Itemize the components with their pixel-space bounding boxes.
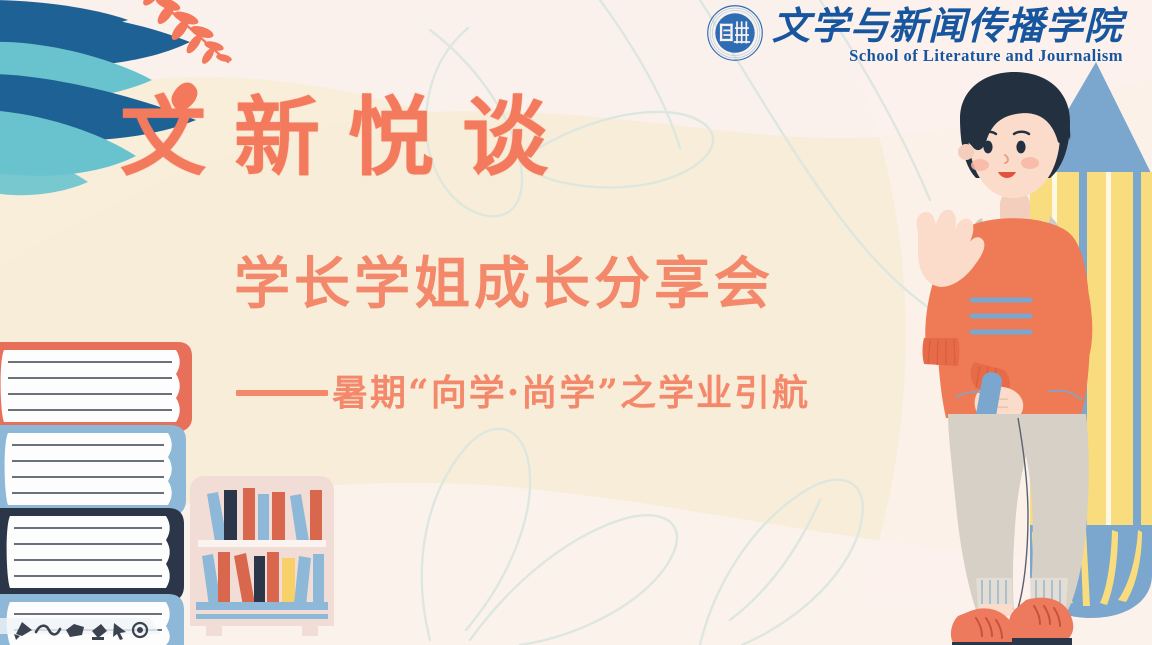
tagline-text: 暑期“向学·尚学”之学业引航	[332, 375, 810, 411]
poster-canvas: 文学与新闻传播学院 School of Literature and Journ…	[0, 0, 1152, 645]
page-title: 文新悦谈	[120, 95, 680, 181]
page-subtitle: 学长学姐成长分享会	[234, 256, 774, 312]
tagline-rule	[236, 390, 328, 396]
tagline: 暑期“向学·尚学”之学业引航	[236, 375, 810, 411]
